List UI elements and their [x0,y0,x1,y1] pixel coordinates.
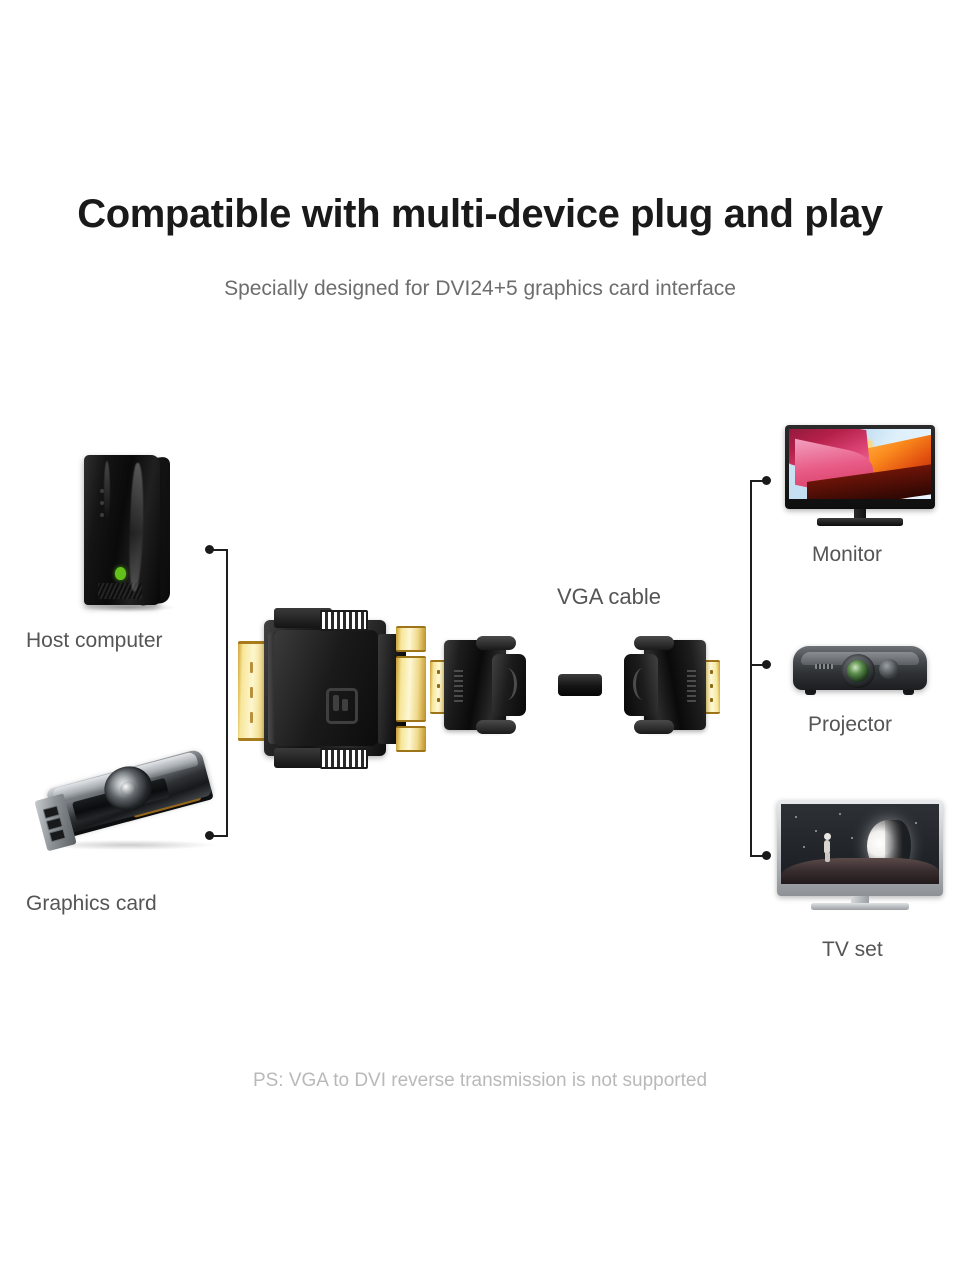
tv-base [811,903,909,910]
screen-astronaut-body [824,840,830,854]
vga-pin [437,684,440,688]
dvi-slot [250,712,253,723]
monitor-bezel [785,425,935,509]
screen-star [815,830,817,832]
vga-pin [710,698,713,702]
bracket-dot-projector [762,660,771,669]
bracket-stub-top [212,549,228,551]
vga-pin [437,670,440,674]
vga-thumbscrew-top [634,636,674,650]
vga-pin [710,670,713,674]
bracket-dot-tv [762,851,771,860]
adapter-vga-blade [396,726,426,752]
adapter-face [274,630,378,746]
projector-sensor-icon [879,659,899,679]
dvi-to-vga-adapter-illustration [238,608,428,768]
vga-brand-text [687,668,696,702]
label-projector: Projector [808,713,892,737]
projector-vent [815,664,833,669]
cable-segment [558,674,602,696]
screen-astronaut-legs [825,853,830,862]
vga-pin [710,684,713,688]
pc-port-icon [100,489,104,493]
projector-lens-icon [847,660,869,682]
monitor-base [817,518,903,526]
footer-note: PS: VGA to DVI reverse transmission is n… [0,1070,960,1092]
bracket-vertical-line [750,480,752,857]
gpu-fan-hub [119,780,138,798]
adapter-spring-top [320,610,368,631]
pc-port-icon [100,513,104,517]
bracket-stub-bottom [212,835,228,837]
dvi-slot [250,662,253,673]
dvi-slot [250,687,253,698]
monitor-screen [789,429,931,499]
pc-port-icon [100,501,104,505]
vga-thumbscrew-bottom [476,720,516,734]
graphics-card-illustration [36,760,226,855]
gpu-port [49,829,66,843]
label-vga-cable: VGA cable [557,584,661,610]
screen-star [839,813,841,815]
screen-star [803,846,805,848]
vga-connector-left [430,630,534,740]
label-monitor: Monitor [812,543,882,567]
screen-star [795,816,797,818]
label-host-computer: Host computer [26,629,163,653]
vga-thumbscrew-top [476,636,516,650]
screen-star [851,837,853,839]
tv-screen [781,804,939,884]
pc-front-panel [84,455,160,605]
screen-terrain [781,858,939,884]
adapter-vga-blade [396,626,426,652]
vga-brand-text [454,668,463,702]
projector-illustration [793,640,927,702]
vga-pin [437,698,440,702]
tv-set-illustration [777,800,943,915]
bracket-dot-gpu [205,831,214,840]
bracket-dot-host [205,545,214,554]
alien-logo-icon [115,567,126,580]
pc-highlight [104,461,110,521]
label-tv-set: TV set [822,938,883,962]
bracket-dot-monitor [762,476,771,485]
adapter-brand-logo-icon [326,688,358,724]
page-title: Compatible with multi-device plug and pl… [0,192,960,237]
adapter-spring-bottom [320,748,368,769]
projector-lens-ring [841,654,875,688]
vga-thumbscrew-bottom [634,720,674,734]
vga-arc-detail [633,668,650,700]
tv-bezel [777,800,943,896]
label-graphics-card: Graphics card [26,892,157,916]
host-computer-illustration [78,455,178,610]
adapter-vga-blade [396,656,426,722]
vga-connector-right [616,630,720,740]
monitor-illustration [785,425,935,530]
bracket-vertical-line [226,549,228,837]
screen-astronaut-head [824,833,831,840]
vga-cable-illustration [430,630,720,740]
screen-star [915,822,917,824]
page-subtitle: Specially designed for DVI24+5 graphics … [0,277,960,301]
